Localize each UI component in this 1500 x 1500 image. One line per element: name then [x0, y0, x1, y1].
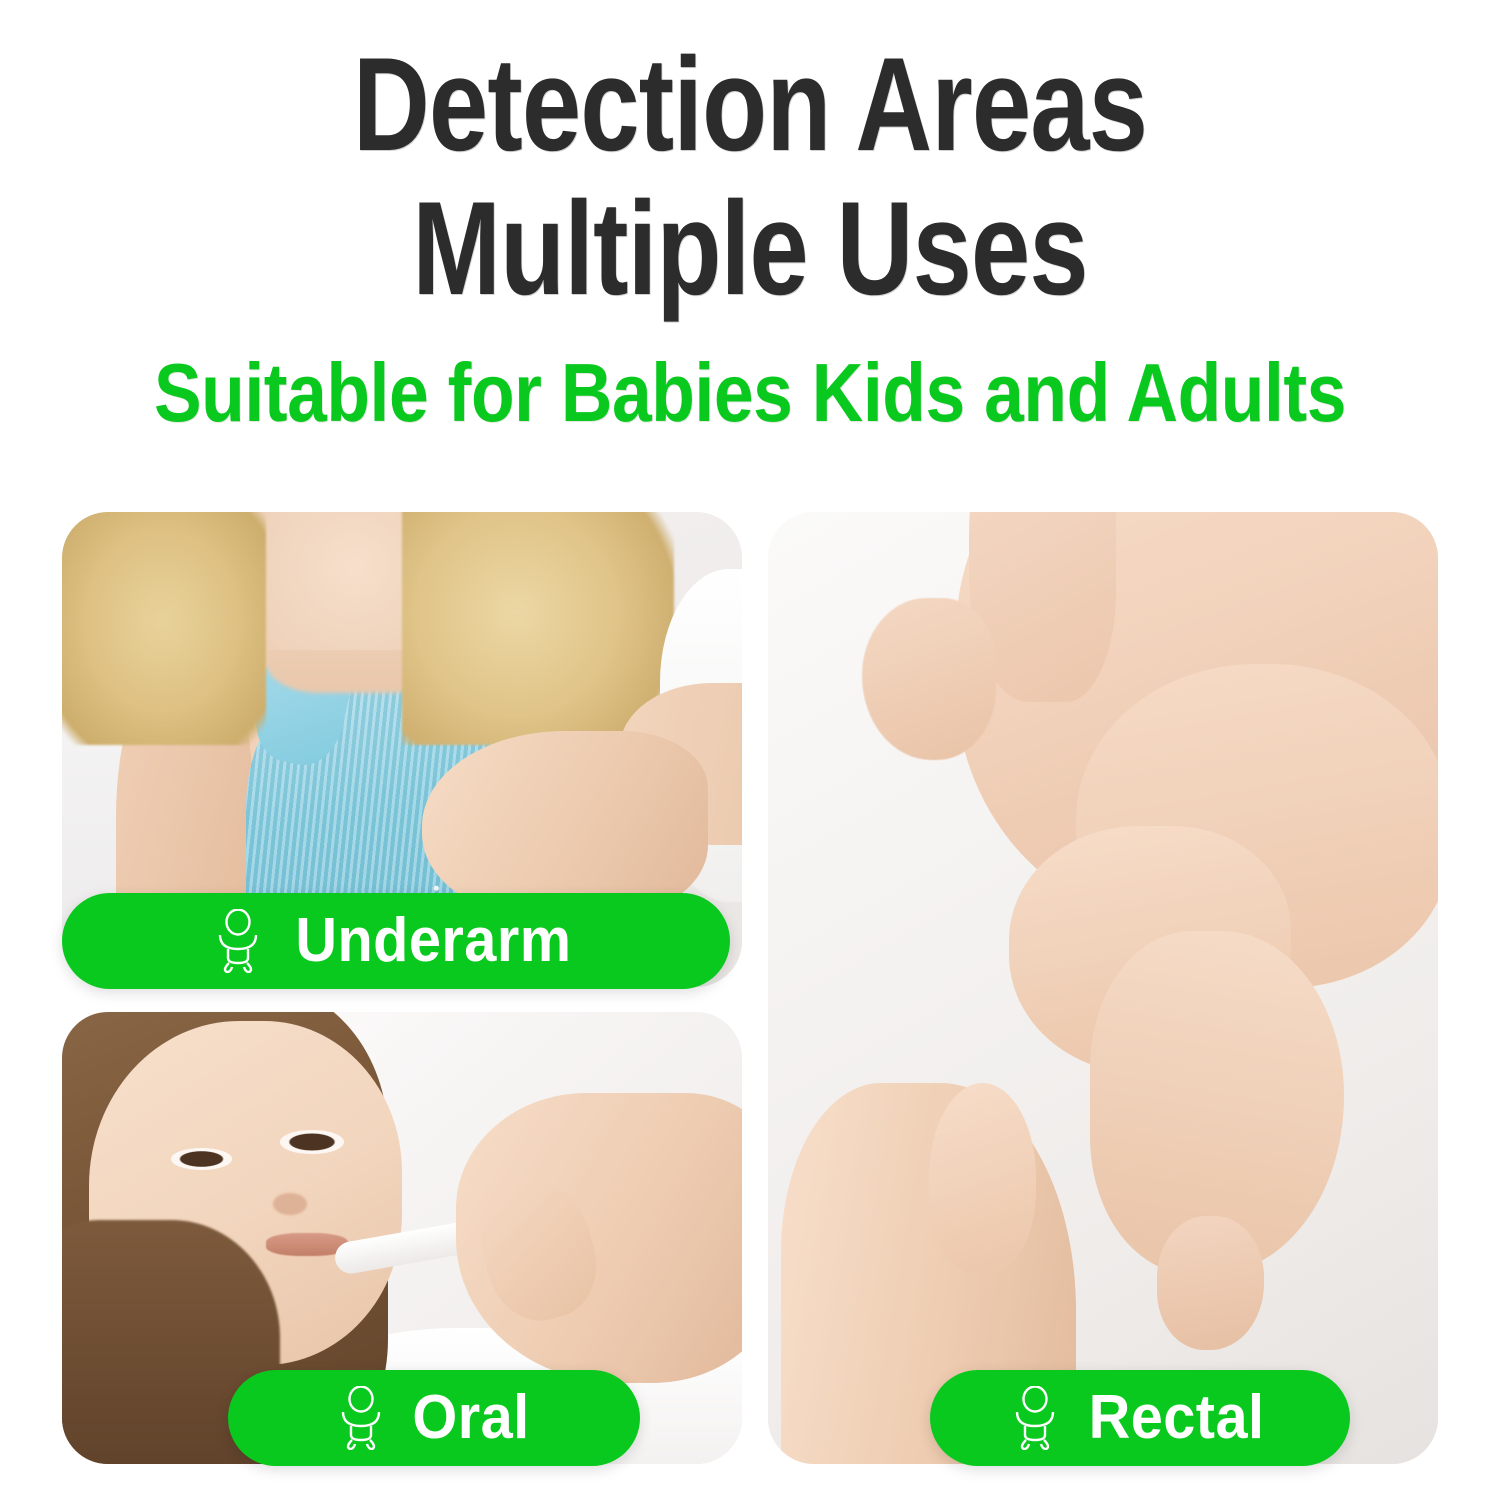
badge-oral[interactable]: Oral [228, 1370, 640, 1466]
baby-icon [334, 1386, 388, 1450]
badge-label: Rectal [1089, 1387, 1265, 1449]
photo-rectal [768, 512, 1438, 1464]
header-block: Detection Areas Multiple Uses Suitable f… [0, 0, 1500, 434]
page-subtitle: Suitable for Babies Kids and Adults [105, 351, 1395, 434]
badge-underarm[interactable]: Underarm [62, 893, 730, 989]
page-title-line-2: Multiple Uses [150, 186, 1350, 312]
baby-icon [1008, 1386, 1062, 1450]
badge-label: Underarm [295, 910, 571, 972]
panel-rectal[interactable]: 99.14 Boncare M °F [768, 512, 1438, 1464]
page-title-line-1: Detection Areas [150, 42, 1350, 168]
badge-label: Oral [412, 1387, 529, 1449]
badge-rectal[interactable]: Rectal [930, 1370, 1350, 1466]
baby-icon [211, 909, 265, 973]
